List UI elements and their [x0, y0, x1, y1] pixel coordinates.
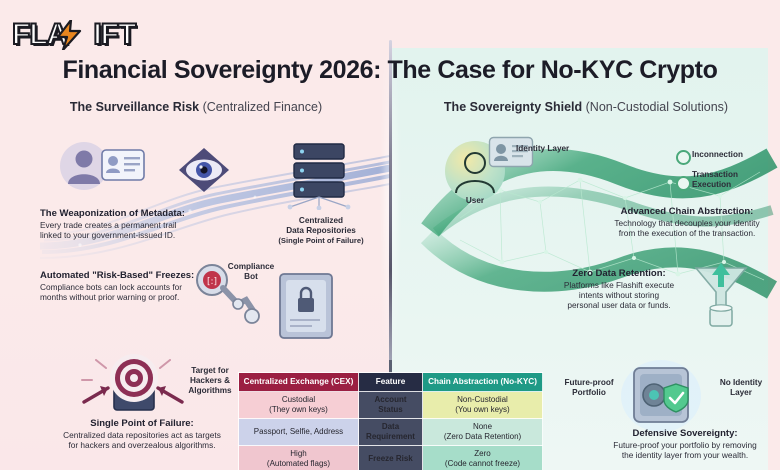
label-user: User: [444, 196, 506, 206]
target-bullseye-icon: [78, 352, 188, 414]
cell-cex-freeze-risk: High (Automated flags): [239, 446, 359, 470]
compliance-bot-line1: Compliance: [228, 262, 274, 271]
lightning-bolt-icon: [56, 20, 82, 50]
page-title: Financial Sovereignty 2026: The Case for…: [0, 56, 780, 85]
cell-line2: (They own keys): [269, 405, 328, 414]
right-subtitle-strong: The Sovereignty Shield: [444, 100, 582, 114]
block-automated-risk-based-freezes: Automated "Risk-Based" Freezes: Complian…: [40, 270, 220, 302]
cell-line2: (You own keys): [455, 405, 509, 414]
node-dot-inconnection: [676, 150, 691, 165]
block-headline: Single Point of Failure:: [38, 418, 246, 430]
cell-line1: Data: [382, 422, 399, 431]
server-stack-icon: [278, 138, 360, 210]
node-dot-transaction: [676, 176, 691, 191]
future-proof-line2: Portfolio: [572, 388, 606, 397]
table-row: High (Automated flags) Freeze Risk Zero …: [239, 446, 543, 470]
cell-ca-account-status: Non-Custodial (You own keys): [423, 392, 543, 419]
transaction-line2: Execution: [692, 180, 731, 189]
table-row: Passport, Selfie, Address Data Requireme…: [239, 419, 543, 446]
cell-cex-account-status: Custodial (They own keys): [239, 392, 359, 419]
cell-feature-freeze-risk: Freeze Risk: [359, 446, 423, 470]
cell-line1: High: [290, 449, 306, 458]
cell-line2: (Automated flags): [267, 459, 330, 468]
secure-vault-icon: [618, 356, 704, 432]
block-body-line2: linked to your government-issued ID.: [40, 230, 210, 240]
infographic-canvas: FLA IFT Financial Sovereignty 2026: The …: [0, 0, 780, 470]
block-zero-data-retention: Zero Data Retention: Platforms like Flas…: [546, 268, 692, 311]
block-headline: Zero Data Retention:: [546, 268, 692, 280]
block-body-line1: Future-proof your portfolio by removing: [590, 440, 780, 450]
repo-label-line2: Data Repositories: [286, 226, 356, 235]
right-panel-subtitle: The Sovereignty Shield (Non-Custodial So…: [392, 100, 780, 114]
label-centralized-data-repositories: Centralized Data Repositories (Single Po…: [262, 216, 380, 246]
block-headline: The Weaponization of Metadata:: [40, 208, 210, 220]
block-body-line1: Compliance bots can lock accounts for: [40, 282, 220, 292]
block-headline: Advanced Chain Abstraction:: [594, 206, 780, 218]
cell-cex-data-requirement: Passport, Selfie, Address: [239, 419, 359, 446]
label-target-hackers-algorithms: Target for Hackers & Algorithms: [178, 366, 242, 396]
table-header-cex: Centralized Exchange (CEX): [239, 373, 359, 392]
no-identity-line1: No Identity: [720, 378, 762, 387]
target-line2: Hackers &: [190, 376, 230, 385]
block-body-line3: personal user data or funds.: [546, 300, 692, 310]
cell-feature-account-status: Account Status: [359, 392, 423, 419]
right-subtitle-light: (Non-Custodial Solutions): [586, 100, 728, 114]
repo-label-line3: (Single Point of Failure): [278, 236, 363, 245]
block-body-line2: months without prior warning or proof.: [40, 292, 220, 302]
cell-line2: Requirement: [366, 432, 415, 441]
label-identity-layer: Identity Layer: [516, 144, 596, 154]
block-single-point-of-failure: Single Point of Failure: Centralized dat…: [38, 418, 246, 450]
block-defensive-sovereignty: Defensive Sovereignty: Future-proof your…: [590, 428, 780, 460]
table-header-feature: Feature: [359, 373, 423, 392]
cell-feature-data-requirement: Data Requirement: [359, 419, 423, 446]
cell-line1: None: [473, 422, 492, 431]
block-body-line1: Centralized data repositories act as tar…: [38, 430, 246, 440]
future-proof-line1: Future-proof: [564, 378, 613, 387]
left-panel-subtitle: The Surveillance Risk (Centralized Finan…: [0, 100, 392, 114]
cell-line1: Custodial: [282, 395, 315, 404]
target-line3: Algorithms: [188, 386, 231, 395]
block-body-line1: Platforms like Flashift execute: [546, 280, 692, 290]
block-body-line2: for hackers and overzealous algorithms.: [38, 440, 246, 450]
block-weaponization-of-metadata: The Weaponization of Metadata: Every tra…: [40, 208, 210, 240]
cell-line2: (Code cannot freeze): [445, 459, 520, 468]
block-body-line2: the identity layer from your wealth.: [590, 450, 780, 460]
compliance-bot-line2: Bot: [244, 272, 258, 281]
cell-ca-freeze-risk: Zero (Code cannot freeze): [423, 446, 543, 470]
cell-line2: (Zero Data Retention): [444, 432, 521, 441]
label-no-identity-layer: No Identity Layer: [710, 378, 772, 398]
transaction-line1: Transaction: [692, 170, 738, 179]
label-inconnection: Inconnection: [692, 150, 774, 160]
block-body-line2: from the execution of the transaction.: [594, 228, 780, 238]
right-panel-top-strip: [392, 0, 780, 48]
brand-name-part2: IFT: [93, 18, 135, 52]
target-line1: Target for: [191, 366, 229, 375]
no-identity-line2: Layer: [730, 388, 752, 397]
repo-label-line1: Centralized: [299, 216, 343, 225]
left-subtitle-light: (Centralized Finance): [203, 100, 323, 114]
left-subtitle-strong: The Surveillance Risk: [70, 100, 199, 114]
cell-line1: Non-Custodial: [457, 395, 508, 404]
block-body-line1: Every trade creates a permanent trail: [40, 220, 210, 230]
cell-line1: Zero: [474, 449, 490, 458]
label-compliance-bot: Compliance Bot: [220, 262, 282, 282]
center-divider: [389, 40, 392, 370]
cell-ca-data-requirement: None (Zero Data Retention): [423, 419, 543, 446]
block-body-line2: intents without storing: [546, 290, 692, 300]
table-header-chain-abstraction: Chain Abstraction (No-KYC): [423, 373, 543, 392]
person-id-icon: [58, 140, 148, 195]
surveillance-eye-icon: [176, 146, 232, 194]
label-transaction-execution: Transaction Execution: [692, 170, 772, 190]
block-headline: Defensive Sovereignty:: [590, 428, 780, 440]
table-header-row: Centralized Exchange (CEX) Feature Chain…: [239, 373, 543, 392]
block-headline: Automated "Risk-Based" Freezes:: [40, 270, 220, 282]
block-advanced-chain-abstraction: Advanced Chain Abstraction: Technology t…: [594, 206, 780, 238]
label-future-proof-portfolio: Future-proof Portfolio: [558, 378, 620, 398]
comparison-table: Centralized Exchange (CEX) Feature Chain…: [238, 372, 543, 470]
block-body-line1: Technology that decouples your identity: [594, 218, 780, 228]
funnel-filter-icon: [690, 262, 752, 328]
table-row: Custodial (They own keys) Account Status…: [239, 392, 543, 419]
